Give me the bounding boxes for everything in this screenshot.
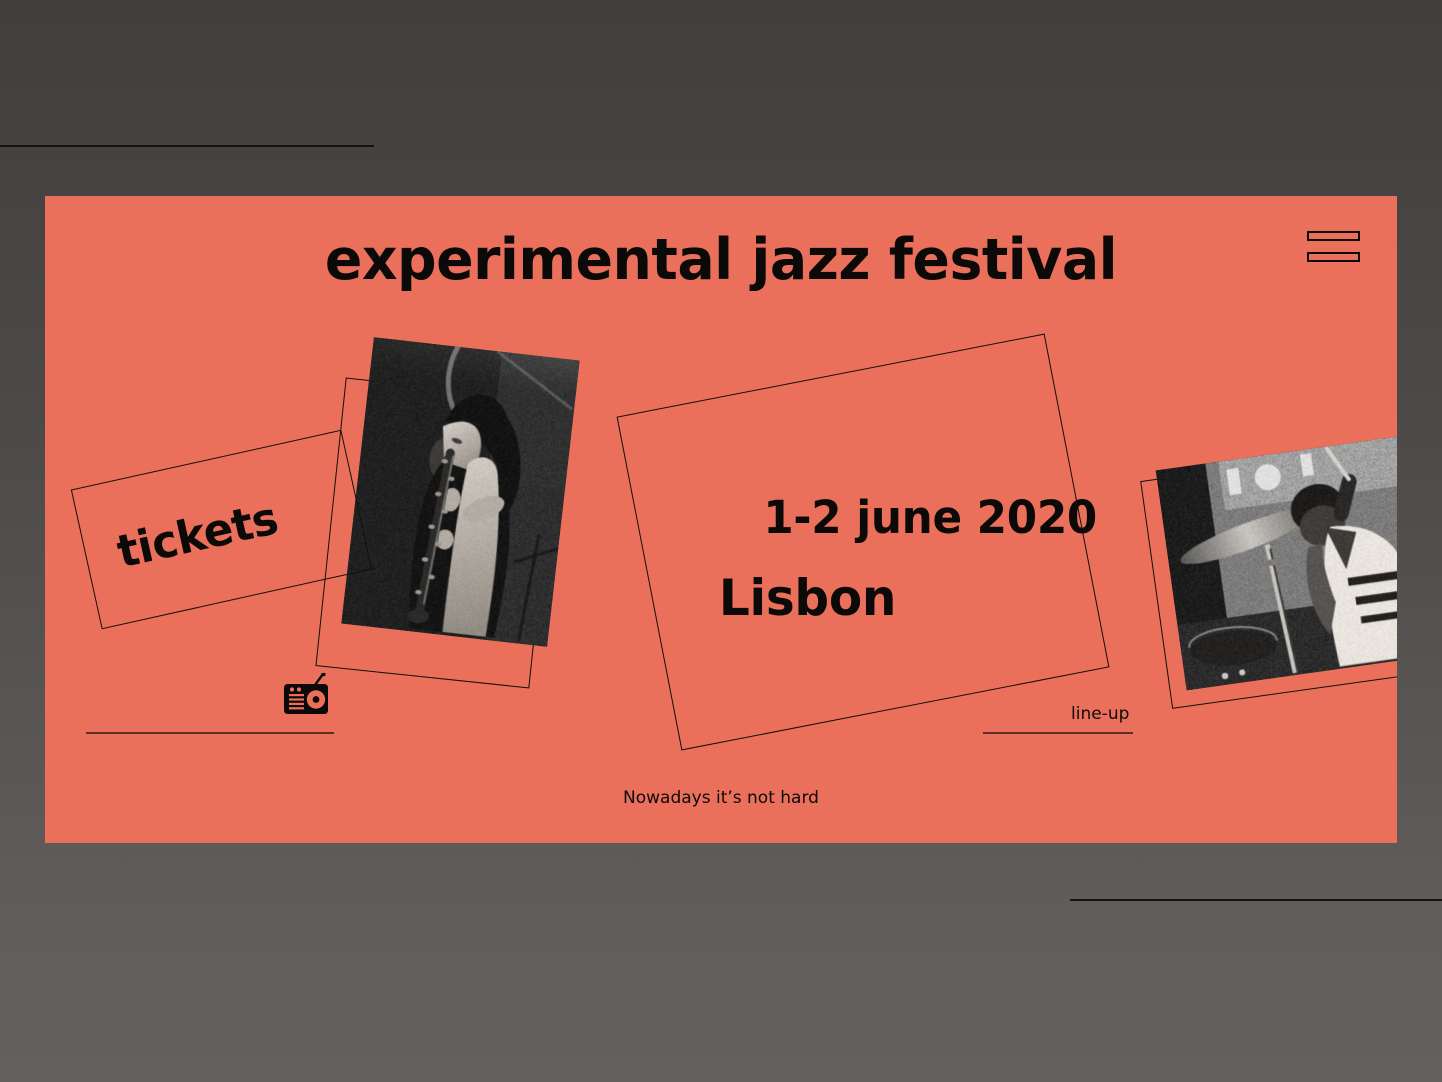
menu-bar-top xyxy=(1307,231,1360,241)
saxophone-performer-photo xyxy=(341,337,579,647)
lineup-link[interactable]: line-up xyxy=(1071,704,1129,724)
drummer-performer-photo xyxy=(1156,436,1397,691)
event-date: 1-2 june 2020 xyxy=(763,491,1097,544)
decorative-rule-top xyxy=(0,145,374,147)
festival-poster-panel: experimental jazz festival tickets 1-2 j… xyxy=(45,196,1397,843)
hamburger-menu-icon[interactable] xyxy=(1307,227,1363,269)
lineup-underline xyxy=(983,732,1133,734)
radio-icon xyxy=(282,673,336,715)
tickets-label: tickets xyxy=(112,491,282,578)
event-city: Lisbon xyxy=(719,569,896,627)
event-details-box: 1-2 june 2020 Lisbon xyxy=(617,334,1110,751)
page-title: experimental jazz festival xyxy=(65,227,1376,293)
tagline-text: Nowadays it’s not hard xyxy=(45,788,1397,808)
menu-bar-bottom xyxy=(1307,252,1360,262)
poster-stage: experimental jazz festival tickets 1-2 j… xyxy=(0,0,1442,1082)
event-details-text: 1-2 june 2020 Lisbon xyxy=(646,373,1082,713)
tickets-underline xyxy=(86,732,334,734)
decorative-rule-bottom xyxy=(1070,899,1442,901)
